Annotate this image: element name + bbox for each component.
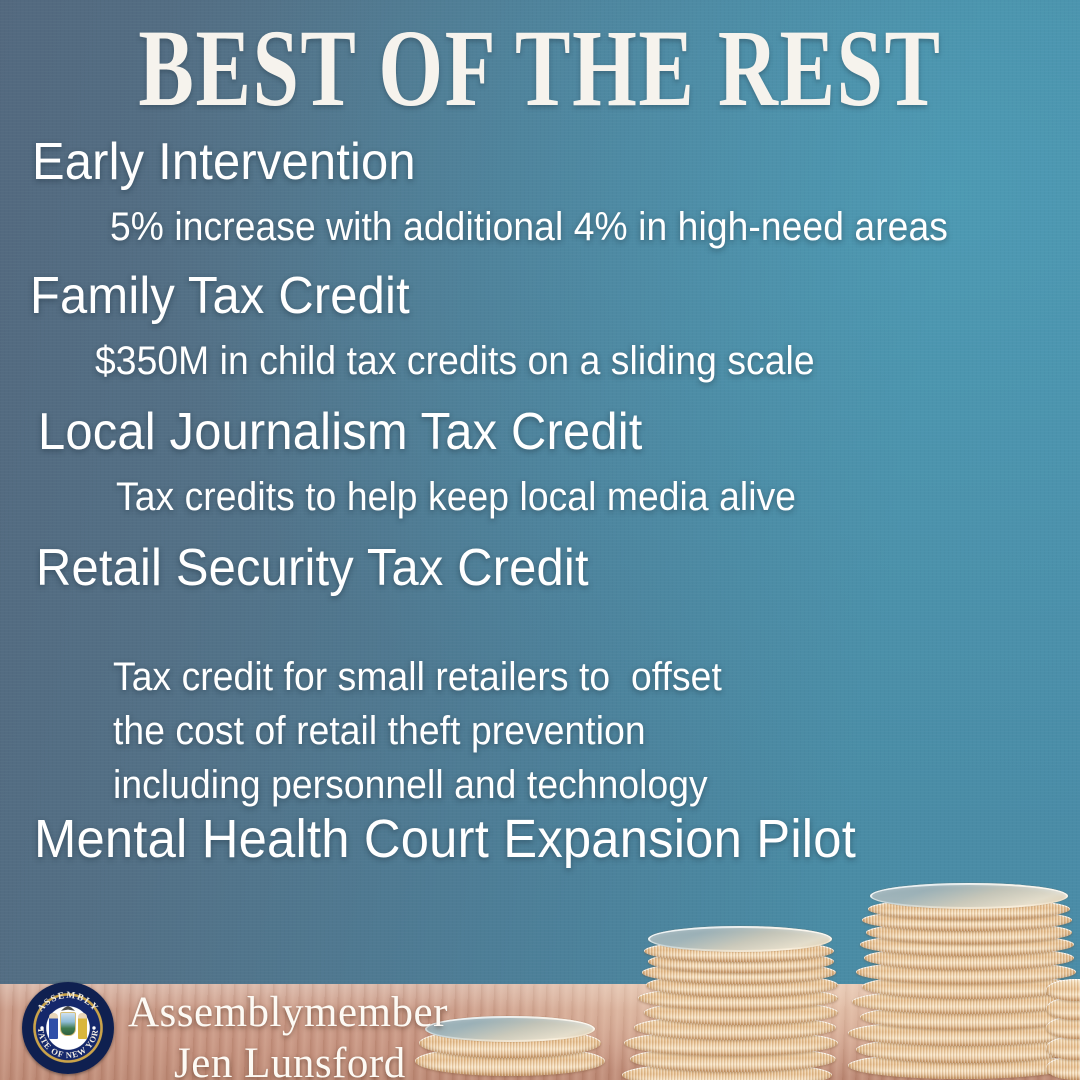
section-detail-line: 5% increase with additional 4% in high-n… — [110, 207, 1012, 247]
section-detail-line: $350M in child tax credits on a sliding … — [95, 341, 1011, 381]
seal-coat-of-arms — [48, 1006, 88, 1050]
section-detail-line: Tax credit for small retailers to offset — [113, 657, 1012, 697]
section-detail-line: Tax credits to help keep local media ali… — [116, 477, 1013, 517]
graphic-canvas: BEST OF THE REST Early Intervention 5% i… — [0, 0, 1080, 1080]
section-heading: Local Journalism Tax Credit — [38, 406, 1017, 459]
section-heading: Early Intervention — [32, 136, 1017, 189]
section-family-tax-credit: Family Tax Credit $350M in child tax cre… — [0, 270, 1080, 381]
signature-name: Jen Lunsford — [128, 1039, 448, 1080]
section-detail-line: the cost of retail theft prevention — [113, 711, 1012, 751]
page-title: BEST OF THE REST — [108, 14, 972, 124]
section-local-journalism-tax-credit: Local Journalism Tax Credit Tax credits … — [0, 406, 1080, 517]
signature-title: Assemblymember — [128, 988, 448, 1039]
ny-state-assembly-seal-icon: ASSEMBLY STATE OF NEW YORK — [22, 982, 114, 1074]
section-retail-security-tax-credit: Retail Security Tax Credit Tax credit fo… — [0, 542, 1080, 805]
seal-shield-icon — [60, 1012, 76, 1036]
section-heading: Family Tax Credit — [30, 270, 1017, 323]
section-detail-line: including personnell and technology — [113, 765, 1012, 805]
seal-figure-justice — [78, 1013, 87, 1039]
section-heading: Mental Health Court Expansion Pilot — [34, 812, 1017, 867]
signature-block: Assemblymember Jen Lunsford — [128, 988, 448, 1080]
seal-figure-liberty — [49, 1013, 58, 1039]
section-heading: Retail Security Tax Credit — [36, 542, 1017, 595]
section-early-intervention: Early Intervention 5% increase with addi… — [0, 136, 1080, 247]
section-mental-health-court-expansion-pilot: Mental Health Court Expansion Pilot — [0, 812, 1080, 867]
